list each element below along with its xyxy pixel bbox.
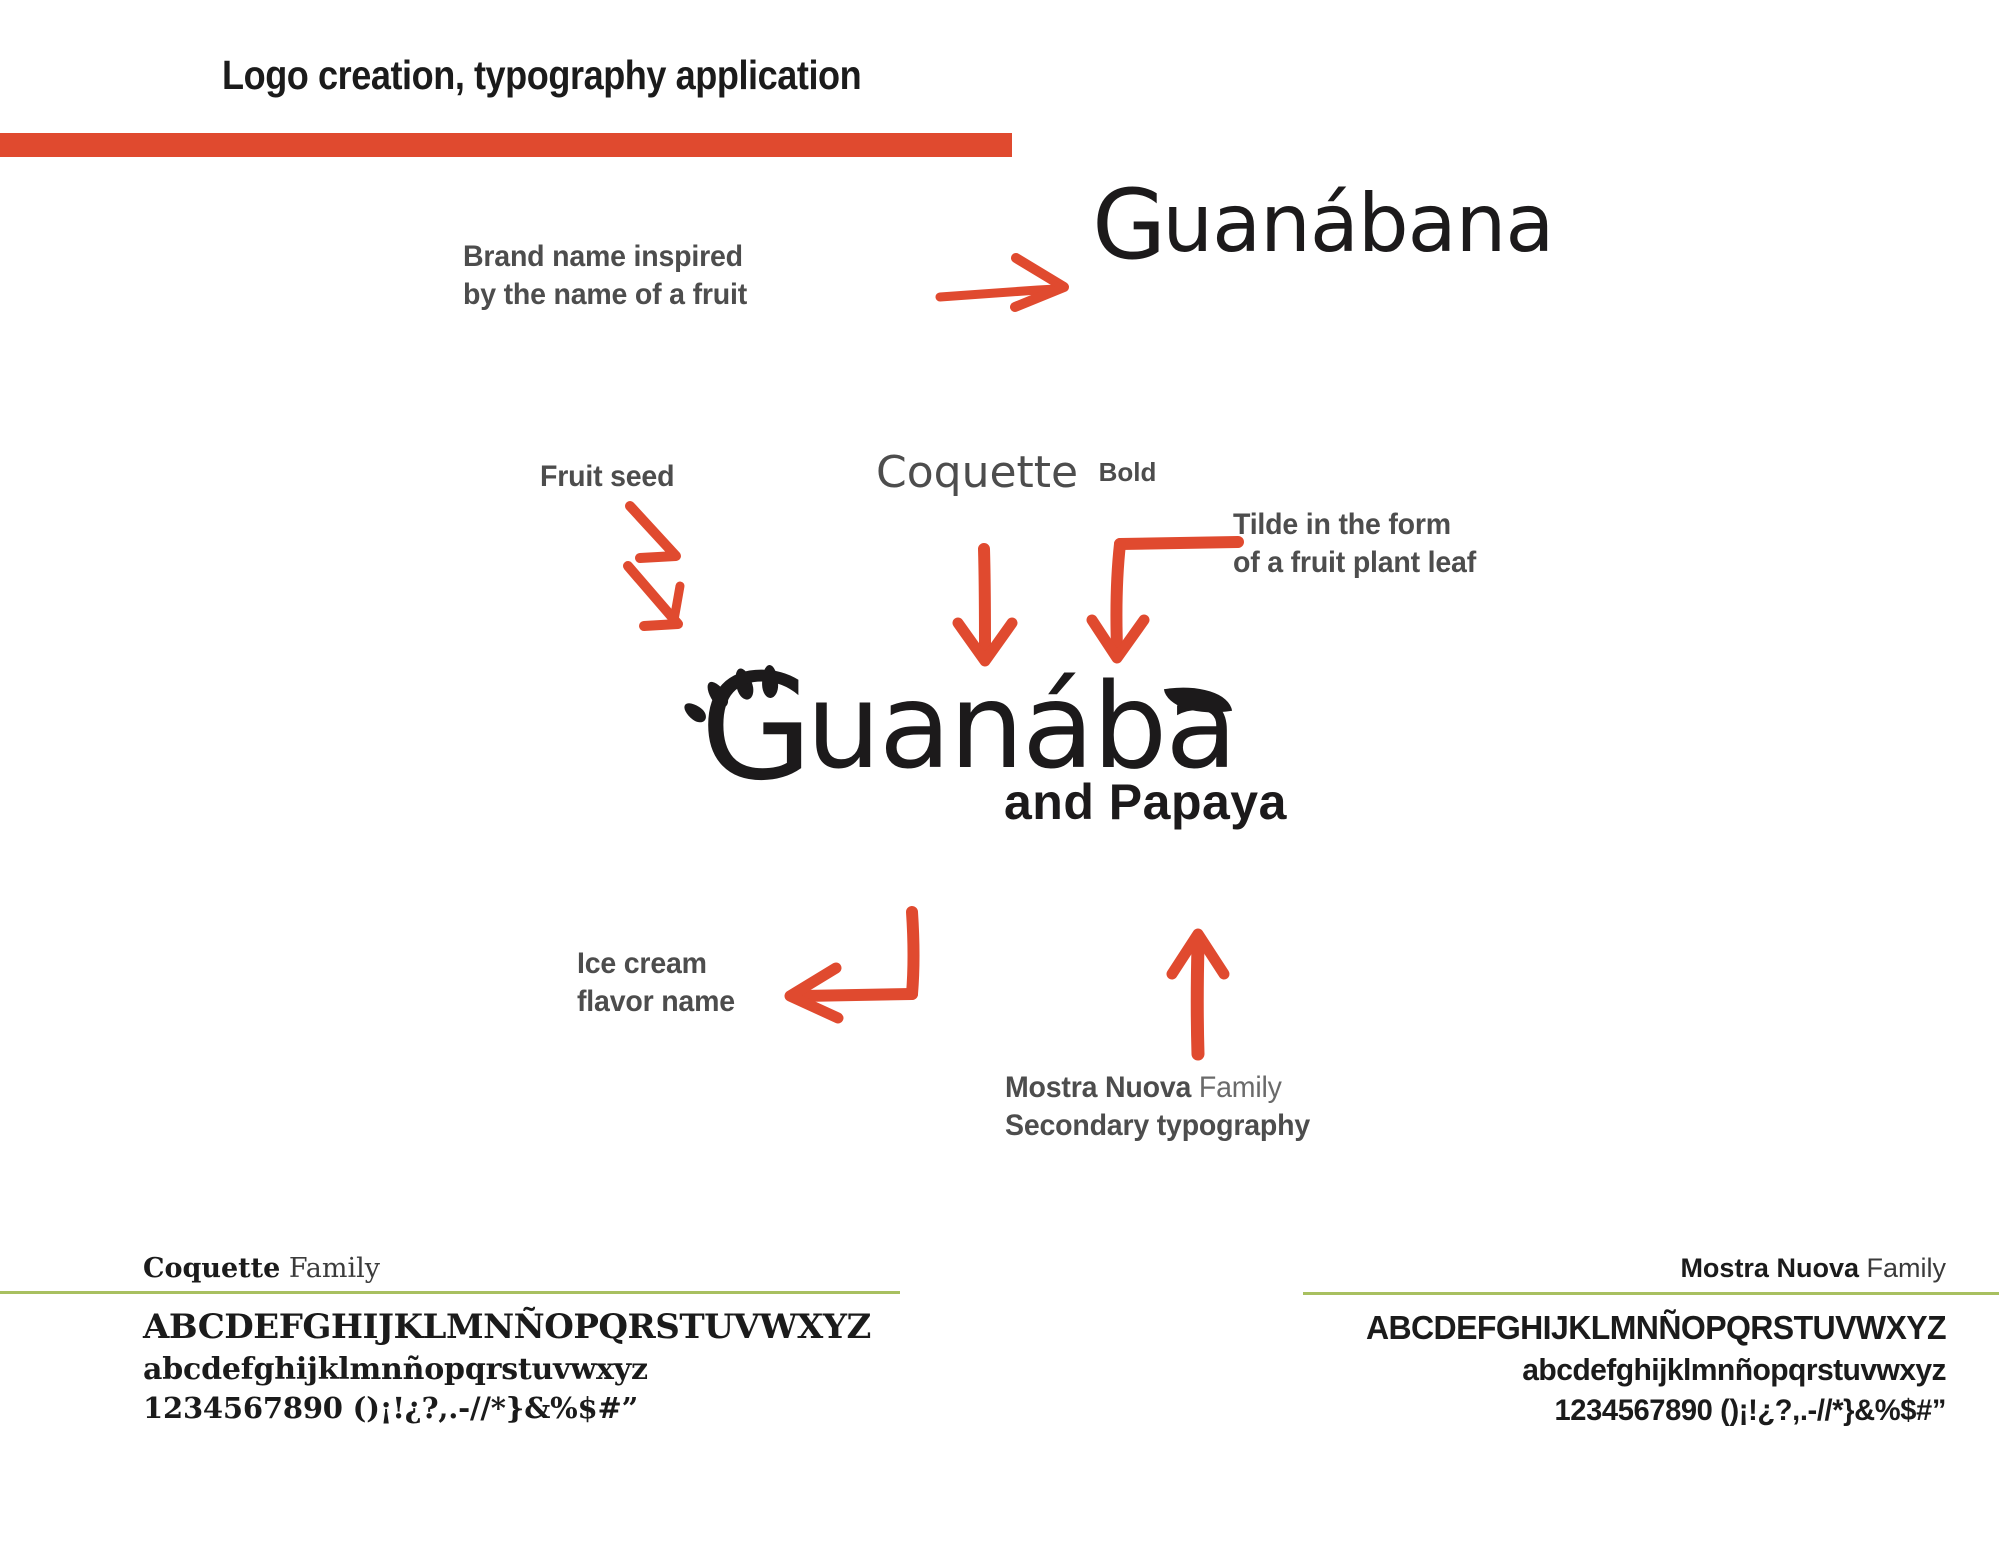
annotation-mostra: Mostra Nuova Family Secondary typography <box>1005 1069 1310 1146</box>
annotation-coquette-weight: Bold <box>1099 457 1157 487</box>
specimen-coquette-rule <box>0 1291 900 1294</box>
arrow-right-brush-icon <box>938 250 1088 320</box>
annotation-mostra-line2: Secondary typography <box>1005 1107 1310 1145</box>
arrow-down-right-double-brush-icon <box>622 500 752 660</box>
annotation-coquette-label: Coquette Bold <box>876 447 1156 498</box>
specimen-mostra-rule <box>1303 1292 1999 1295</box>
annotation-brand-name-line1: Brand name inspired <box>463 238 747 276</box>
logo-initial: G <box>700 643 806 813</box>
specimen-coquette-lowercase: abcdefghijklmnñopqrstuvwxyz <box>143 1350 900 1390</box>
annotation-fruit-seed: Fruit seed <box>540 458 674 496</box>
wordmark-guanabana: Guanábana <box>1092 177 1553 273</box>
specimen-mostra-lowercase: abcdefghijklmnñopqrstuvwxyz <box>1322 1350 1946 1391</box>
annotation-tilde: Tilde in the form of a fruit plant leaf <box>1233 506 1476 583</box>
specimen-mostra-name: Mostra Nuova <box>1680 1253 1859 1283</box>
arrow-down-brush-icon <box>944 545 1024 670</box>
annotation-ice-cream: Ice cream flavor name <box>577 945 735 1022</box>
annotation-fruit-seed-line1: Fruit seed <box>540 458 674 496</box>
arrow-up-brush-icon <box>1158 930 1238 1060</box>
arrow-elbow-down-brush-icon <box>1086 534 1246 670</box>
logo-subline: and Papaya <box>1004 773 1287 831</box>
specimen-mostra-uppercase: ABCDEFGHIJKLMNÑOPQRSTUVWXYZ <box>1322 1307 1946 1350</box>
annotation-tilde-line2: of a fruit plant leaf <box>1233 544 1476 582</box>
specimen-coquette: Coquette Family ABCDEFGHIJKLMNÑOPQRSTUVW… <box>0 1253 900 1427</box>
wordmark-rest: uanábana <box>1162 177 1553 270</box>
title-accent-rule <box>0 133 1012 157</box>
annotation-coquette-name: Coquette <box>876 447 1078 498</box>
specimen-coquette-lines: ABCDEFGHIJKLMNÑOPQRSTUVWXYZ abcdefghijkl… <box>143 1306 900 1427</box>
wordmark-initial: G <box>1092 169 1162 281</box>
specimen-mostra-numerals: 1234567890 ()¡!¿?,.-//*}&%$#” <box>1322 1391 1946 1431</box>
logo-guanaba: Guanába and Papaya <box>700 655 1236 801</box>
page-title: Logo creation, typography application <box>222 52 861 99</box>
slide-canvas: Logo creation, typography application Br… <box>0 0 1999 1545</box>
specimen-mostra-family: Family <box>1867 1253 1947 1283</box>
annotation-mostra-family-bold: Mostra Nuova <box>1005 1071 1191 1104</box>
annotation-ice-cream-line1: Ice cream <box>577 945 735 983</box>
specimen-coquette-numerals: 1234567890 ()¡!¿?,.-//*}&%$#” <box>143 1389 900 1427</box>
specimen-mostra: Mostra Nuova Family ABCDEFGHIJKLMNÑOPQRS… <box>1303 1253 1999 1430</box>
specimen-coquette-heading: Coquette Family <box>143 1253 900 1284</box>
specimen-coquette-name: Coquette <box>143 1253 280 1284</box>
annotation-mostra-line1: Mostra Nuova Family <box>1005 1069 1310 1107</box>
arrow-elbow-left-brush-icon <box>766 908 926 1018</box>
specimen-coquette-uppercase: ABCDEFGHIJKLMNÑOPQRSTUVWXYZ <box>143 1306 900 1350</box>
specimen-mostra-heading: Mostra Nuova Family <box>1303 1253 1946 1284</box>
specimen-mostra-lines: ABCDEFGHIJKLMNÑOPQRSTUVWXYZ abcdefghijkl… <box>1303 1307 1946 1430</box>
annotation-ice-cream-line2: flavor name <box>577 983 735 1021</box>
annotation-tilde-line1: Tilde in the form <box>1233 506 1476 544</box>
annotation-brand-name: Brand name inspired by the name of a fru… <box>463 238 747 315</box>
annotation-brand-name-line2: by the name of a fruit <box>463 276 747 314</box>
specimen-coquette-family: Family <box>289 1253 380 1284</box>
annotation-mostra-family-light: Family <box>1199 1071 1282 1104</box>
